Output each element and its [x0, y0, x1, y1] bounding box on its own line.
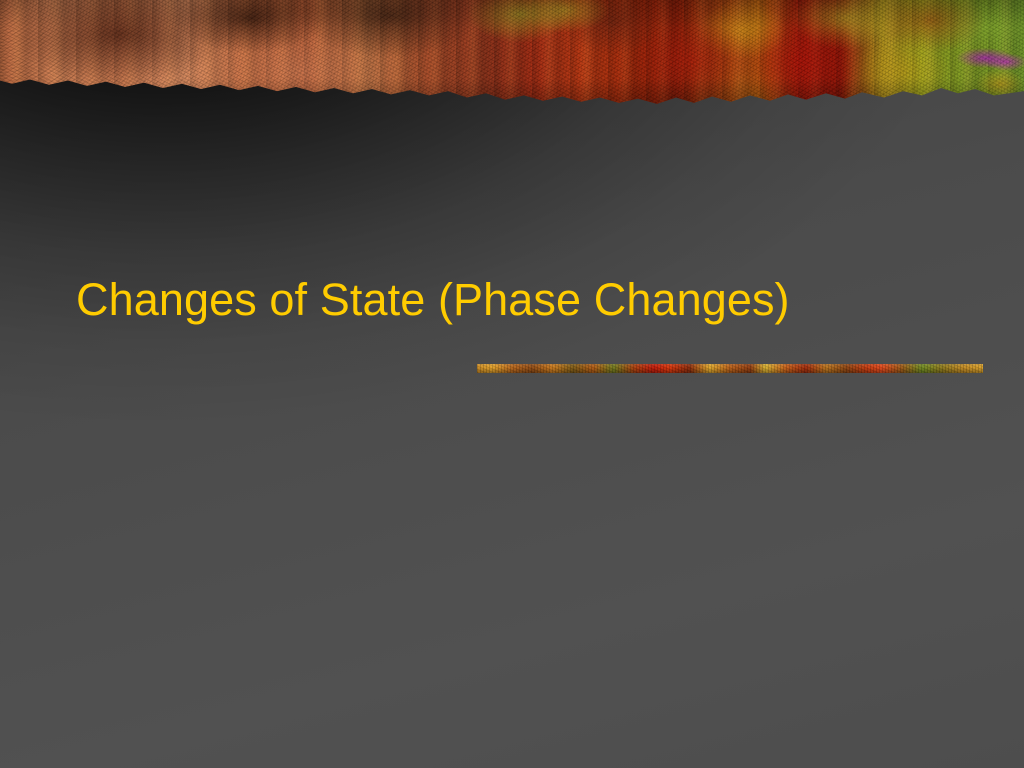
accent-rule-shading [477, 364, 983, 373]
slide-title: Changes of State (Phase Changes) [76, 272, 988, 328]
abstract-texture-band [0, 0, 1024, 106]
presentation-slide: Changes of State (Phase Changes) [0, 0, 1024, 768]
title-accent-rule [477, 364, 983, 373]
texture-band-shading [0, 0, 1024, 106]
